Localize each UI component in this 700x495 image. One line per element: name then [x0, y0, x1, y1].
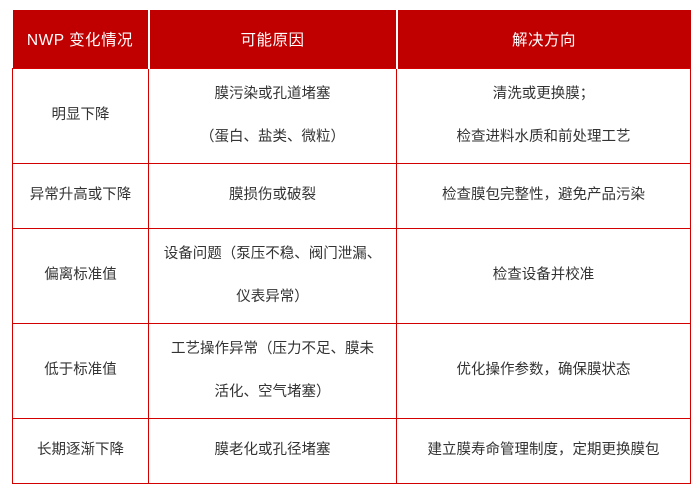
- cell-solution-line: 清洗或更换膜；: [407, 84, 680, 105]
- cell-solution-line: 建立膜寿命管理制度，定期更换膜包: [407, 440, 680, 461]
- cell-solution: 优化操作参数，确保膜状态: [397, 324, 691, 419]
- cell-cause: 工艺操作异常（压力不足、膜未 活化、空气堵塞）: [149, 324, 397, 419]
- table-row: 低于标准值 工艺操作异常（压力不足、膜未 活化、空气堵塞） 优化操作参数，确保膜…: [13, 324, 691, 419]
- header-row: NWP 变化情况 可能原因 解决方向: [13, 10, 691, 69]
- cell-solution: 建立膜寿命管理制度，定期更换膜包: [397, 419, 691, 484]
- header-cell-change: NWP 变化情况: [13, 10, 149, 69]
- cell-solution: 检查设备并校准: [397, 229, 691, 324]
- cell-solution-line: 检查设备并校准: [407, 265, 680, 286]
- table-row: 偏离标准值 设备问题（泵压不稳、阀门泄漏、 仪表异常） 检查设备并校准: [13, 229, 691, 324]
- cell-cause-line: 活化、空气堵塞）: [159, 382, 386, 403]
- cell-change: 低于标准值: [13, 324, 149, 419]
- cell-cause-line: 膜污染或孔道堵塞: [159, 84, 386, 105]
- cell-change: 异常升高或下降: [13, 164, 149, 229]
- cell-cause-line: 设备问题（泵压不稳、阀门泄漏、: [159, 244, 386, 265]
- table-header: NWP 变化情况 可能原因 解决方向: [13, 10, 691, 69]
- cell-cause-line: 膜损伤或破裂: [159, 185, 386, 206]
- nwp-troubleshooting-table: NWP 变化情况 可能原因 解决方向 明显下降 膜污染或孔道堵塞 （蛋白、盐类、…: [12, 10, 691, 484]
- cell-solution-line: 优化操作参数，确保膜状态: [407, 360, 680, 381]
- cell-change: 长期逐渐下降: [13, 419, 149, 484]
- table-row: 长期逐渐下降 膜老化或孔径堵塞 建立膜寿命管理制度，定期更换膜包: [13, 419, 691, 484]
- cell-change: 明显下降: [13, 69, 149, 164]
- table-row: 异常升高或下降 膜损伤或破裂 检查膜包完整性，避免产品污染: [13, 164, 691, 229]
- cell-cause: 膜损伤或破裂: [149, 164, 397, 229]
- cell-cause-line: 膜老化或孔径堵塞: [159, 440, 386, 461]
- header-cell-solution: 解决方向: [397, 10, 691, 69]
- cell-cause-line: （蛋白、盐类、微粒）: [159, 127, 386, 148]
- cell-change: 偏离标准值: [13, 229, 149, 324]
- cell-solution-line: 检查膜包完整性，避免产品污染: [407, 185, 680, 206]
- cell-cause: 设备问题（泵压不稳、阀门泄漏、 仪表异常）: [149, 229, 397, 324]
- cell-cause: 膜老化或孔径堵塞: [149, 419, 397, 484]
- table-sheet: NWP 变化情况 可能原因 解决方向 明显下降 膜污染或孔道堵塞 （蛋白、盐类、…: [0, 0, 700, 495]
- cell-solution-line: 检查进料水质和前处理工艺: [407, 127, 680, 148]
- cell-cause-line: 工艺操作异常（压力不足、膜未: [159, 339, 386, 360]
- cell-cause-line: 仪表异常）: [159, 287, 386, 308]
- cell-solution: 清洗或更换膜； 检查进料水质和前处理工艺: [397, 69, 691, 164]
- cell-cause: 膜污染或孔道堵塞 （蛋白、盐类、微粒）: [149, 69, 397, 164]
- table-body: 明显下降 膜污染或孔道堵塞 （蛋白、盐类、微粒） 清洗或更换膜； 检查进料水质和…: [13, 69, 691, 484]
- table-row: 明显下降 膜污染或孔道堵塞 （蛋白、盐类、微粒） 清洗或更换膜； 检查进料水质和…: [13, 69, 691, 164]
- header-cell-cause: 可能原因: [149, 10, 397, 69]
- cell-solution: 检查膜包完整性，避免产品污染: [397, 164, 691, 229]
